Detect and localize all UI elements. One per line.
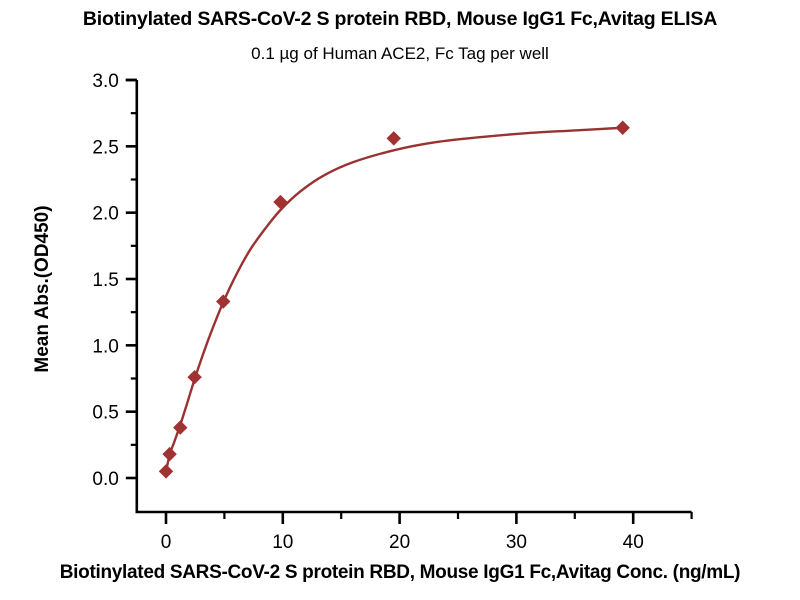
y-tick-label: 2.0 <box>92 204 118 225</box>
x-tick-label: 30 <box>506 532 527 553</box>
elisa-binding-curve-figure: Biotinylated SARS-CoV-2 S protein RBD, M… <box>0 0 800 600</box>
tick-labels: 0.00.51.01.52.02.53.0010203040 <box>92 71 643 553</box>
data-point-marker <box>273 195 287 209</box>
y-tick-label: 1.5 <box>92 270 118 291</box>
y-tick-label: 0.5 <box>92 403 118 424</box>
data-point-marker <box>216 294 230 308</box>
data-point-marker <box>173 420 187 434</box>
plot-area: 0.00.51.01.52.02.53.0010203040 <box>0 0 800 600</box>
data-markers <box>159 121 630 479</box>
data-point-marker <box>615 121 629 135</box>
data-point-marker <box>162 447 176 461</box>
y-tick-label: 3.0 <box>92 71 118 92</box>
y-tick-label: 0.0 <box>92 469 118 490</box>
binding-curve-path <box>166 128 623 472</box>
x-tick-label: 10 <box>272 532 293 553</box>
x-tick-label: 20 <box>389 532 410 553</box>
data-point-marker <box>159 464 173 478</box>
y-tick-label: 2.5 <box>92 137 118 158</box>
x-tick-label: 0 <box>161 532 172 553</box>
y-tick-label: 1.0 <box>92 336 118 357</box>
data-point-marker <box>187 370 201 384</box>
data-point-marker <box>387 131 401 145</box>
x-tick-label: 40 <box>623 532 644 553</box>
fitted-curve <box>166 128 623 472</box>
